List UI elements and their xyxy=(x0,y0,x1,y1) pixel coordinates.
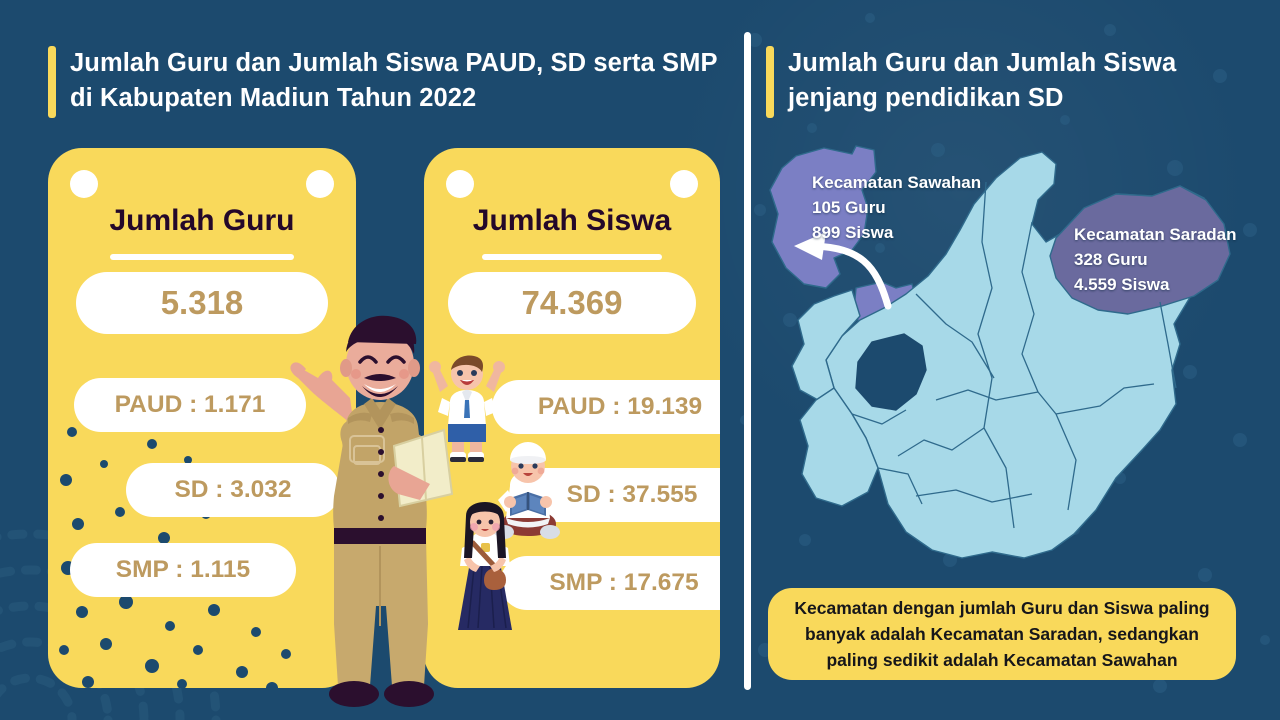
right-panel-title: Jumlah Guru dan Jumlah Siswa jenjang pen… xyxy=(766,46,1236,118)
card-punch-hole-left xyxy=(70,170,98,198)
card-punch-hole-left xyxy=(446,170,474,198)
card-heading-rule xyxy=(110,254,294,260)
callout-students: 899 Siswa xyxy=(812,220,981,245)
callout-district-name: Kecamatan Saradan xyxy=(1074,222,1237,247)
left-panel-title-text: Jumlah Guru dan Jumlah Siswa PAUD, SD se… xyxy=(70,46,738,116)
right-panel-title-text: Jumlah Guru dan Jumlah Siswa jenjang pen… xyxy=(788,46,1236,116)
title-accent-bar xyxy=(766,46,774,118)
card-punch-hole-right xyxy=(306,170,334,198)
left-panel-title: Jumlah Guru dan Jumlah Siswa PAUD, SD se… xyxy=(48,46,738,118)
card-heading: Jumlah Guru xyxy=(48,204,356,238)
map-callout-saradan: Kecamatan Saradan 328 Guru 4.559 Siswa xyxy=(1074,222,1237,297)
card-punch-hole-right xyxy=(670,170,698,198)
callout-students: 4.559 Siswa xyxy=(1074,272,1237,297)
callout-teachers: 328 Guru xyxy=(1074,247,1237,272)
stat-pill-siswa-smp: SMP : 17.675 xyxy=(500,556,720,610)
title-accent-bar xyxy=(48,46,56,118)
student-girl-illustration xyxy=(440,502,530,636)
summary-note-box: Kecamatan dengan jumlah Guru dan Siswa p… xyxy=(768,588,1236,680)
panel-divider xyxy=(744,32,751,690)
card-heading-rule xyxy=(482,254,662,260)
stat-pill-guru-paud: PAUD : 1.171 xyxy=(74,378,306,432)
callout-teachers: 105 Guru xyxy=(812,195,981,220)
card-heading: Jumlah Siswa xyxy=(424,204,720,238)
stat-pill-siswa-paud: PAUD : 19.139 xyxy=(492,380,720,434)
stat-pill-guru-smp: SMP : 1.115 xyxy=(70,543,296,597)
total-value-siswa: 74.369 xyxy=(448,272,696,334)
map-callout-sawahan: Kecamatan Sawahan 105 Guru 899 Siswa xyxy=(812,170,981,245)
summary-note-text: Kecamatan dengan jumlah Guru dan Siswa p… xyxy=(784,595,1220,673)
callout-district-name: Kecamatan Sawahan xyxy=(812,170,981,195)
infographic-canvas: Jumlah Guru dan Jumlah Siswa PAUD, SD se… xyxy=(0,0,1280,720)
